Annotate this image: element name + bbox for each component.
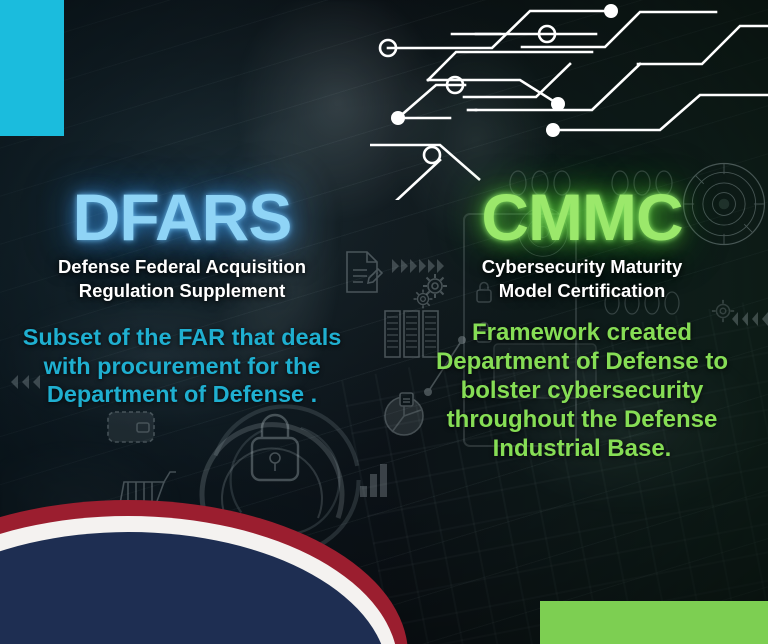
dfars-expansion-line-1: Defense Federal Acquisition: [2, 255, 362, 279]
cyan-accent-block: [0, 0, 64, 136]
cmmc-expansion-line-2: Model Certification: [410, 279, 754, 303]
circuit-traces: [0, 0, 768, 200]
infographic-canvas: DFARS Defense Federal Acquisition Regula…: [0, 0, 768, 644]
dfars-acronym-title: DFARS: [2, 186, 362, 249]
dfars-description: Subset of the FAR that deals with procur…: [2, 323, 362, 408]
wallet-icon: [106, 408, 156, 446]
dfars-expansion-line-2: Regulation Supplement: [2, 279, 362, 303]
panel-cmmc: CMMC Cybersecurity Maturity Model Certif…: [410, 186, 754, 463]
cmmc-acronym-title: CMMC: [410, 186, 754, 249]
green-accent-block: [540, 601, 768, 644]
cmmc-expansion-line-1: Cybersecurity Maturity: [410, 255, 754, 279]
cmmc-description: Framework created Department of Defense …: [410, 319, 754, 463]
flag-arc-decoration: [0, 500, 408, 644]
cmmc-expansion: Cybersecurity Maturity Model Certificati…: [410, 255, 754, 303]
dfars-expansion: Defense Federal Acquisition Regulation S…: [2, 255, 362, 303]
bar-chart-icon: [358, 460, 394, 498]
panel-dfars: DFARS Defense Federal Acquisition Regula…: [2, 186, 362, 409]
